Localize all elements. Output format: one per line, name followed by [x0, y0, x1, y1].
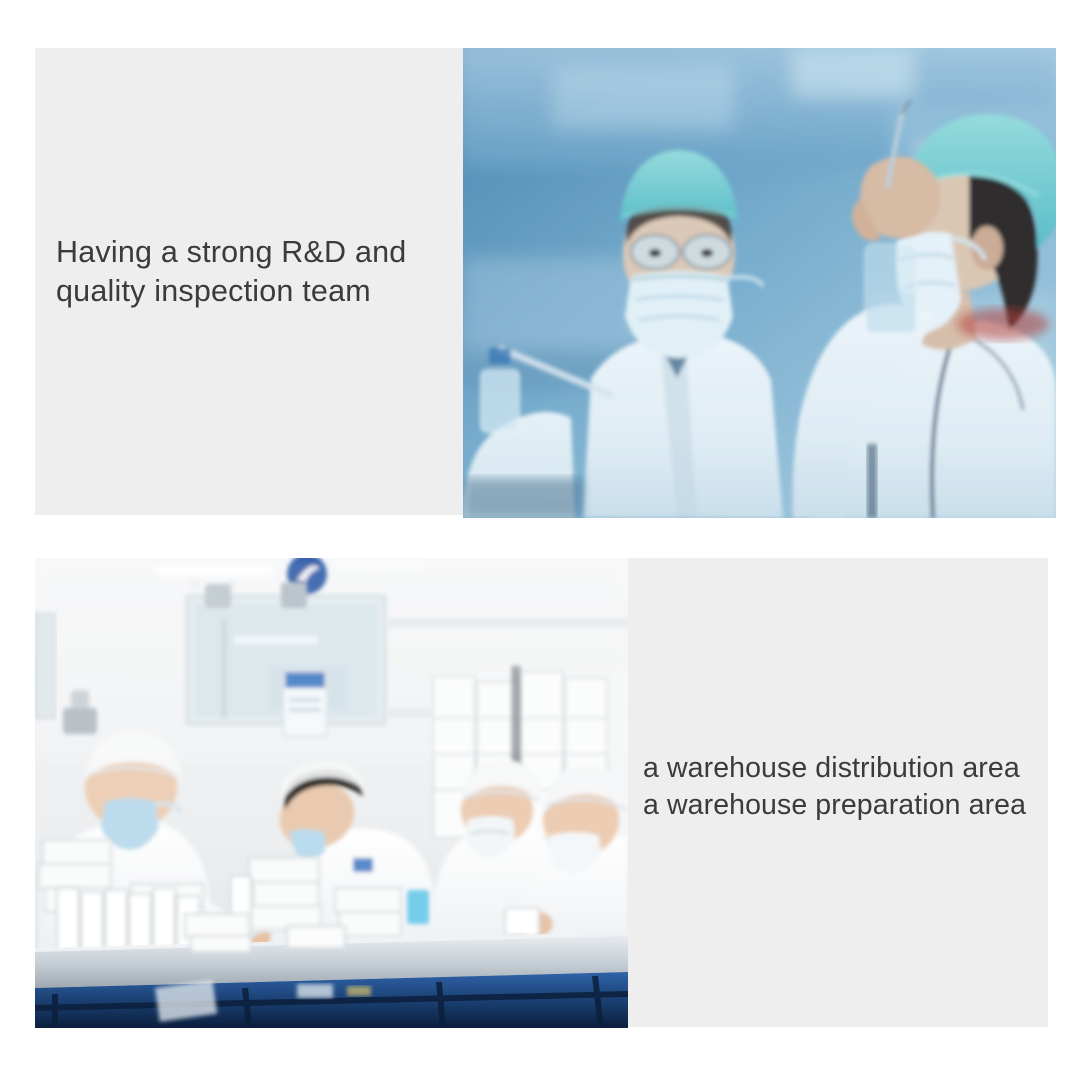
- warehouse-photo-graphic: [35, 558, 628, 1028]
- lab-quality-inspection-photo: [463, 48, 1056, 518]
- bottom-block: a warehouse distribution area a warehous…: [35, 558, 1048, 1028]
- lab-photo-graphic: [463, 48, 1056, 518]
- top-caption-text: Having a strong R&D and quality inspecti…: [56, 233, 476, 311]
- bottom-caption-text: a warehouse distribution area a warehous…: [643, 750, 1073, 824]
- top-block: Having a strong R&D and quality inspecti…: [35, 48, 1056, 518]
- warehouse-packing-photo: [35, 558, 628, 1028]
